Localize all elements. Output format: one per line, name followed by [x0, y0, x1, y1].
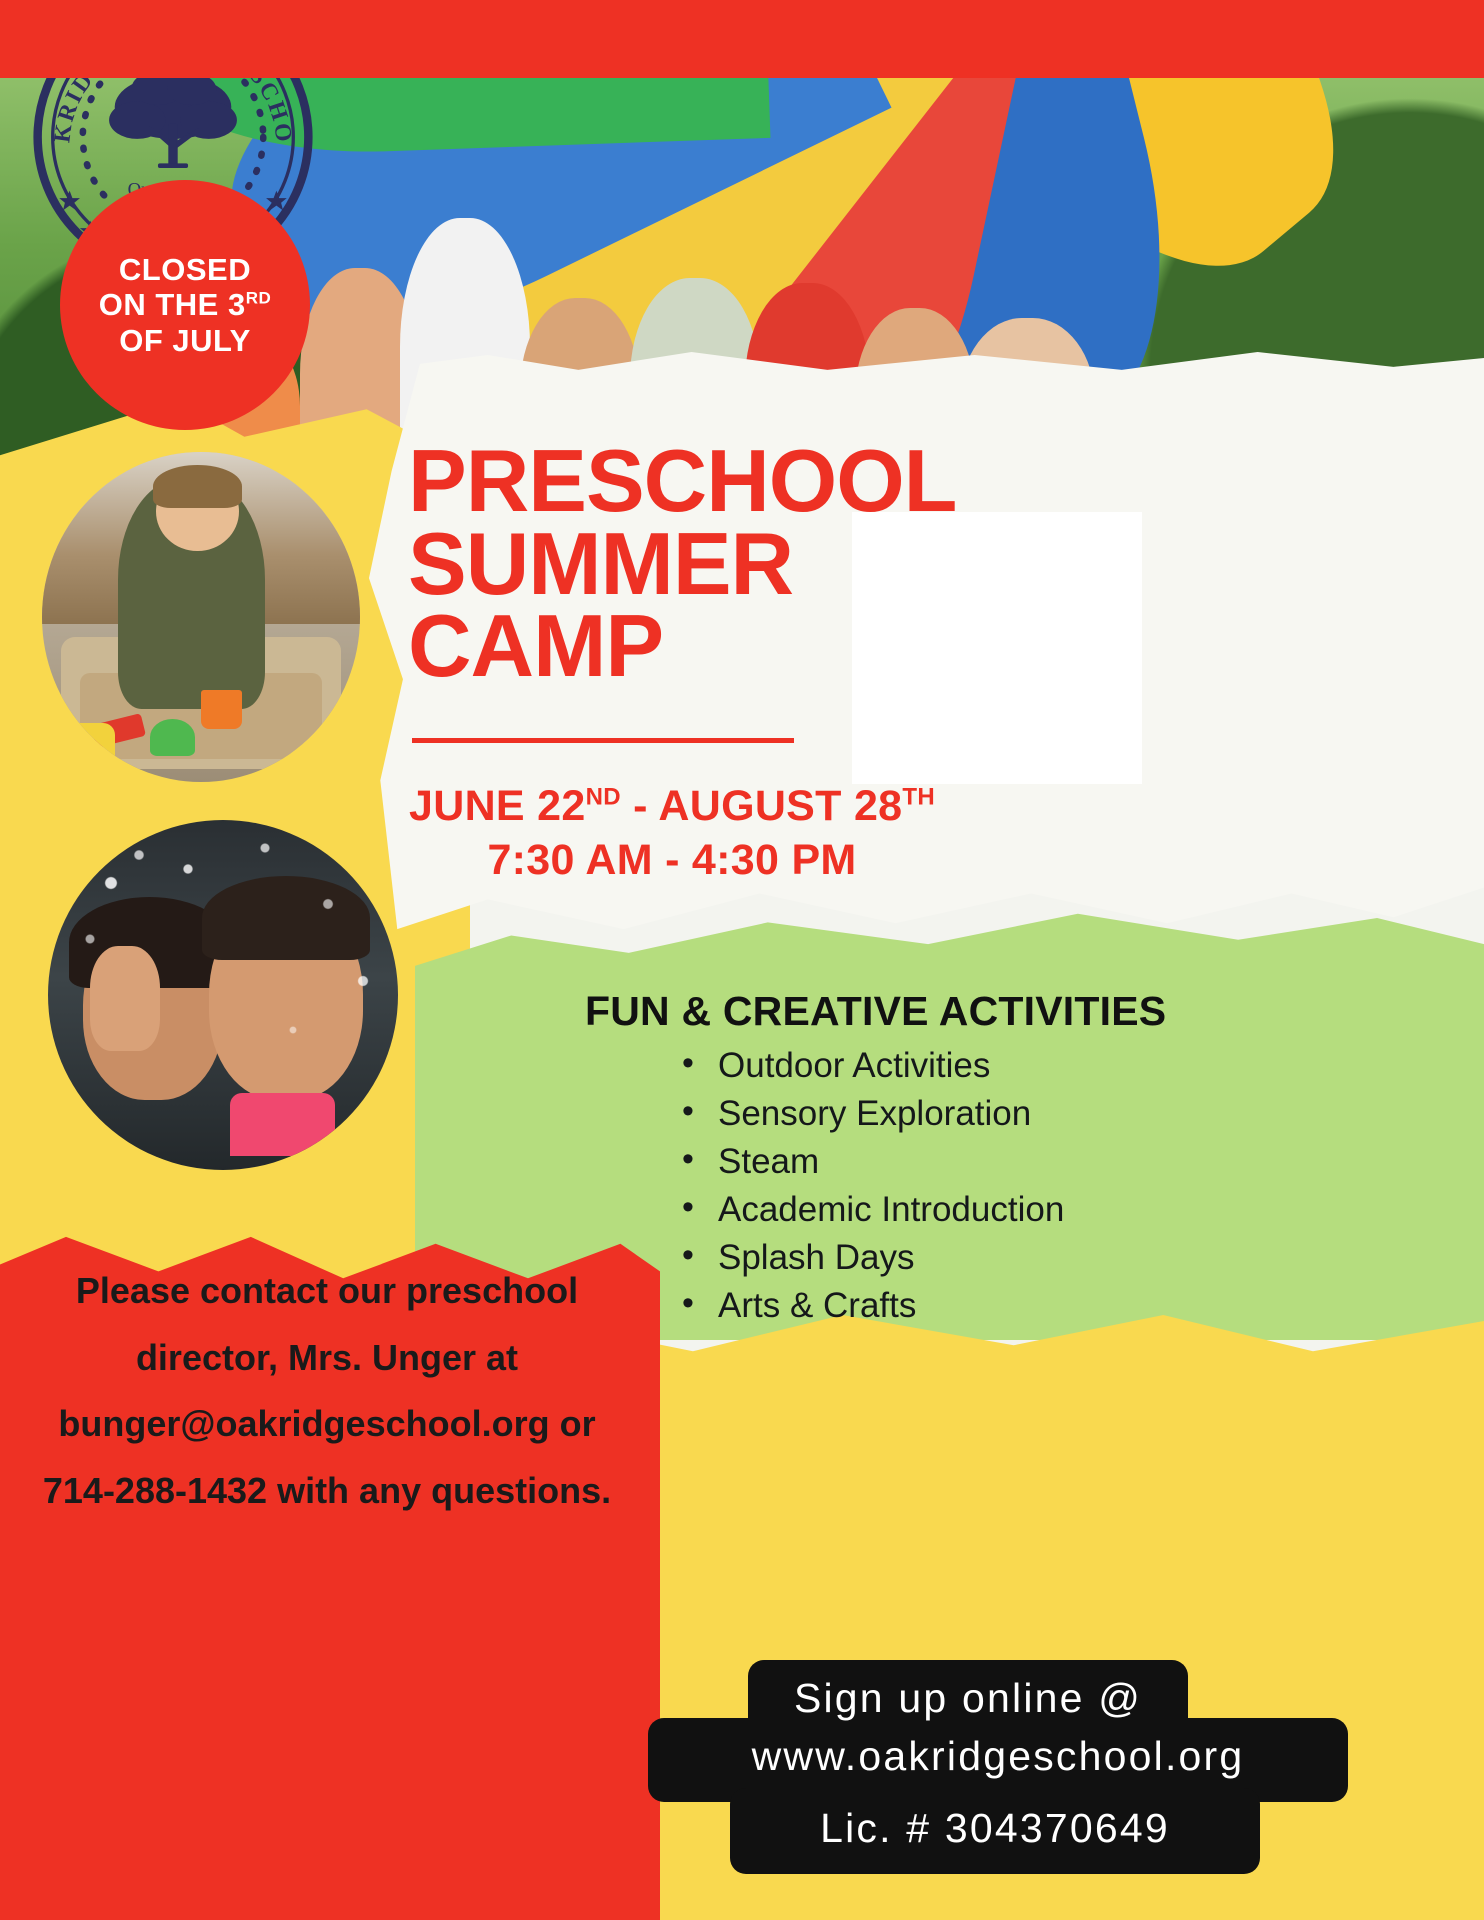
- contact-email-line[interactable]: bunger@oakridgeschool.org or: [20, 1391, 634, 1458]
- date-start: JUNE 22: [409, 782, 586, 830]
- activities-heading: FUN & CREATIVE ACTIVITIES: [585, 988, 1166, 1035]
- contact-line-2: director, Mrs. Unger at: [20, 1325, 634, 1392]
- signup-box[interactable]: Sign up online @ www.oakridgeschool.org …: [640, 1660, 1470, 1910]
- badge-ordinal-suffix: RD: [246, 289, 272, 308]
- list-item: Steam: [678, 1138, 1064, 1186]
- sand-child-hair: [153, 465, 242, 508]
- badge-line-1: CLOSED: [119, 252, 251, 287]
- top-red-bar: [0, 0, 1484, 78]
- school-logo-box: [852, 512, 1142, 784]
- title-line-1: PRESCHOOL: [408, 440, 956, 523]
- signup-website[interactable]: www.oakridgeschool.org: [648, 1736, 1348, 1777]
- camp-schedule: JUNE 22ND - AUGUST 28TH 7:30 AM - 4:30 P…: [392, 782, 952, 886]
- flyer-canvas: CLOSED ON THE 3RD OF JULY PRESCHOOL SUMM…: [0, 0, 1484, 1920]
- splash-photo: [48, 820, 398, 1170]
- list-item: Splash Days: [678, 1234, 1064, 1282]
- water-droplets: [48, 820, 398, 1170]
- badge-line-3: OF JULY: [119, 323, 251, 358]
- license-number: Lic. # 304370649: [730, 1808, 1260, 1849]
- closed-july-badge: CLOSED ON THE 3RD OF JULY: [60, 180, 310, 430]
- contact-phone-line[interactable]: 714-288-1432 with any questions.: [20, 1458, 634, 1525]
- title-divider: [412, 738, 794, 743]
- sand-table-photo: [42, 452, 360, 782]
- contact-info: Please contact our preschool director, M…: [20, 1258, 634, 1524]
- yellow-bucket-toy: [61, 723, 115, 763]
- contact-line-1: Please contact our preschool: [20, 1258, 634, 1325]
- badge-line-2: ON THE 3RD: [99, 287, 272, 322]
- list-item: Academic Introduction: [678, 1186, 1064, 1234]
- list-item: Arts & Crafts: [678, 1282, 1064, 1330]
- date-end: - AUGUST 28: [621, 782, 903, 830]
- camp-hours: 7:30 AM - 4:30 PM: [392, 836, 952, 886]
- orange-cup-toy: [201, 690, 242, 730]
- activities-list: Outdoor Activities Sensory Exploration S…: [678, 1042, 1064, 1330]
- camp-date-range: JUNE 22ND - AUGUST 28TH: [392, 782, 952, 832]
- date-end-ordinal: TH: [902, 784, 935, 811]
- badge-line-2-text: ON THE 3: [99, 287, 246, 322]
- list-item: Outdoor Activities: [678, 1042, 1064, 1090]
- list-item: Sensory Exploration: [678, 1090, 1064, 1138]
- signup-prompt: Sign up online @: [748, 1678, 1188, 1719]
- green-ball-toy: [150, 719, 195, 755]
- date-start-ordinal: ND: [586, 784, 621, 811]
